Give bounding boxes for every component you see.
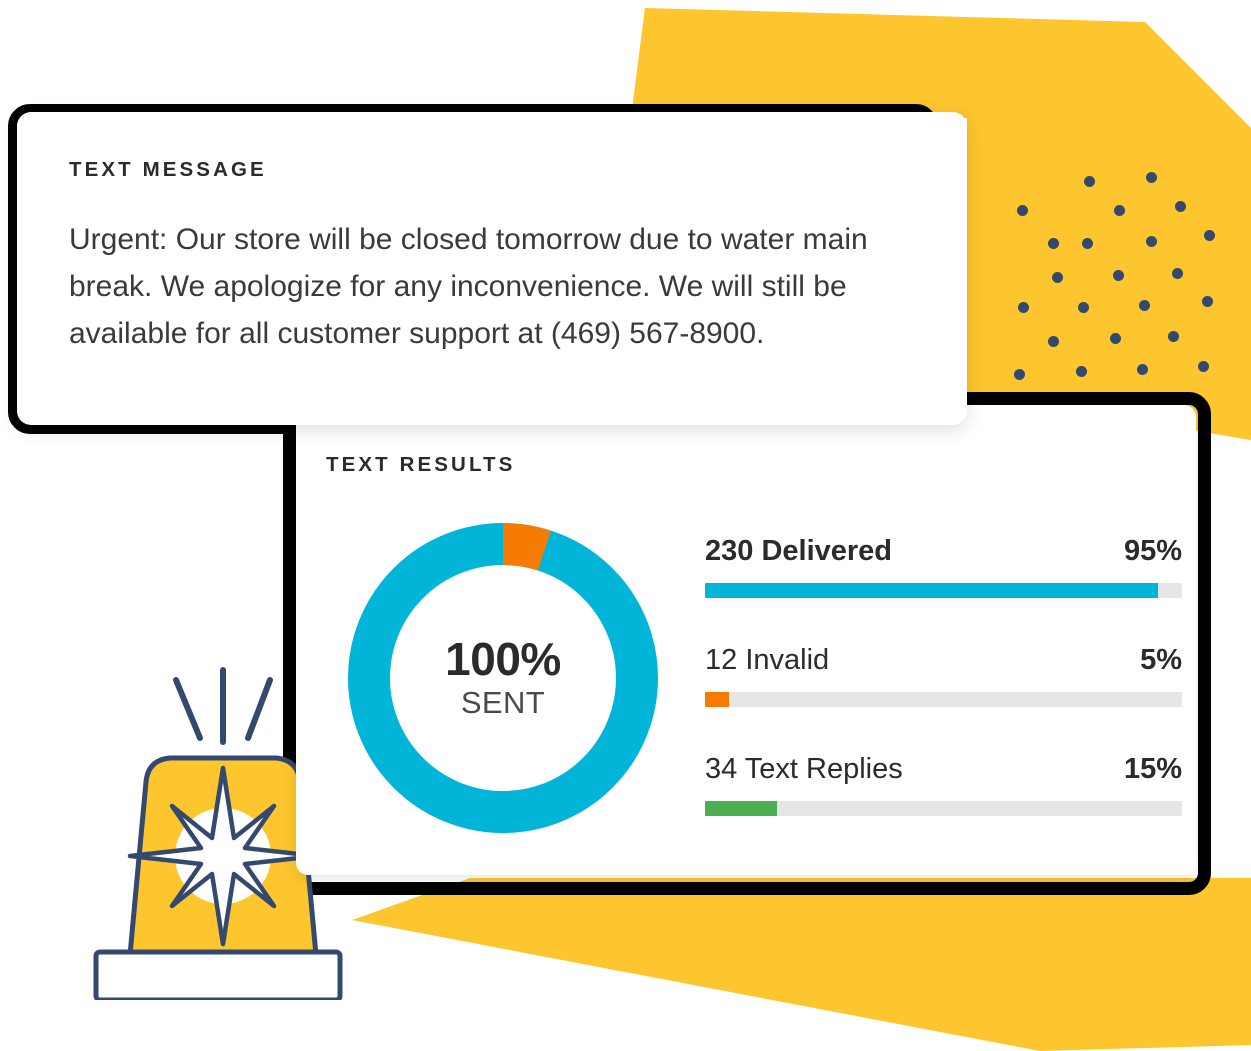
stat-row-invalid: 12 Invalid 5% xyxy=(705,644,1182,707)
stat-row-text-replies: 34 Text Replies 15% xyxy=(705,753,1182,816)
stat-label-text-replies: 34 Text Replies xyxy=(705,753,903,786)
stat-percent-invalid: 5% xyxy=(1140,644,1182,677)
message-card: TEXT MESSAGE Urgent: Our store will be c… xyxy=(17,112,967,425)
donut-center-label: 100% SENT xyxy=(348,523,658,833)
stat-percent-delivered: 95% xyxy=(1124,535,1182,568)
stat-header: 230 Delivered 95% xyxy=(705,535,1182,568)
results-card-title: TEXT RESULTS xyxy=(326,453,1196,477)
stat-row-delivered: 230 Delivered 95% xyxy=(705,535,1182,598)
message-card-title: TEXT MESSAGE xyxy=(69,158,913,182)
illustration-stage: TEXT RESULTS 100% SENT xyxy=(0,0,1251,1051)
donut-percent-value: 100% xyxy=(445,636,561,682)
progress-track-delivered xyxy=(705,583,1182,598)
stat-label-invalid: 12 Invalid xyxy=(705,644,829,677)
stat-header: 12 Invalid 5% xyxy=(705,644,1182,677)
progress-fill-invalid xyxy=(705,692,729,707)
progress-track-invalid xyxy=(705,692,1182,707)
siren-light-rays-icon xyxy=(176,670,270,742)
stat-percent-text-replies: 15% xyxy=(1124,753,1182,786)
results-content: 100% SENT 230 Delivered 95% xyxy=(326,523,1196,833)
progress-fill-text-replies xyxy=(705,801,777,816)
progress-track-text-replies xyxy=(705,801,1182,816)
sent-donut-chart: 100% SENT xyxy=(348,523,658,833)
donut-status-label: SENT xyxy=(461,685,545,721)
results-card: TEXT RESULTS 100% SENT xyxy=(296,405,1196,875)
message-card-body: Urgent: Our store will be closed tomorro… xyxy=(69,216,913,357)
yellow-shape-bottom xyxy=(352,878,1251,1051)
progress-fill-delivered xyxy=(705,583,1158,598)
stat-header: 34 Text Replies 15% xyxy=(705,753,1182,786)
siren-base xyxy=(96,952,340,1000)
stat-label-delivered: 230 Delivered xyxy=(705,535,892,567)
stats-list: 230 Delivered 95% 12 Invalid 5% xyxy=(705,535,1196,816)
